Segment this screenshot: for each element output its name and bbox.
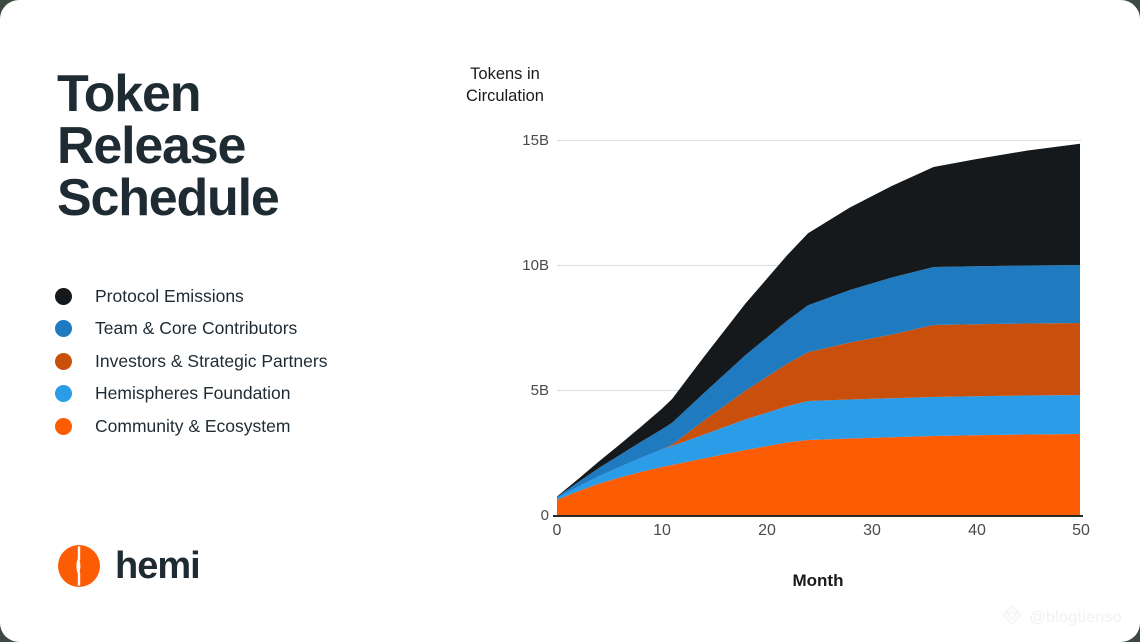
x-tick-label-30: 30 bbox=[847, 522, 897, 540]
x-tick-label-50: 50 bbox=[1056, 522, 1106, 540]
watermark-handle: @blogtienso bbox=[1030, 609, 1123, 627]
slide-card: Token Release Schedule Protocol Emission… bbox=[0, 0, 1140, 642]
diamond-logo-icon bbox=[1001, 604, 1023, 631]
chart-plot-area bbox=[0, 0, 1140, 642]
x-axis-line bbox=[553, 515, 1083, 517]
watermark: @blogtienso bbox=[1001, 604, 1123, 631]
x-axis-title: Month bbox=[758, 571, 878, 591]
x-tick-label-20: 20 bbox=[742, 522, 792, 540]
x-tick-label-0: 0 bbox=[532, 522, 582, 540]
x-tick-label-40: 40 bbox=[952, 522, 1002, 540]
stacked-area-chart: Tokens in Circulation 15B 10B 5B 0 0 10 … bbox=[0, 0, 1140, 642]
x-tick-label-10: 10 bbox=[637, 522, 687, 540]
